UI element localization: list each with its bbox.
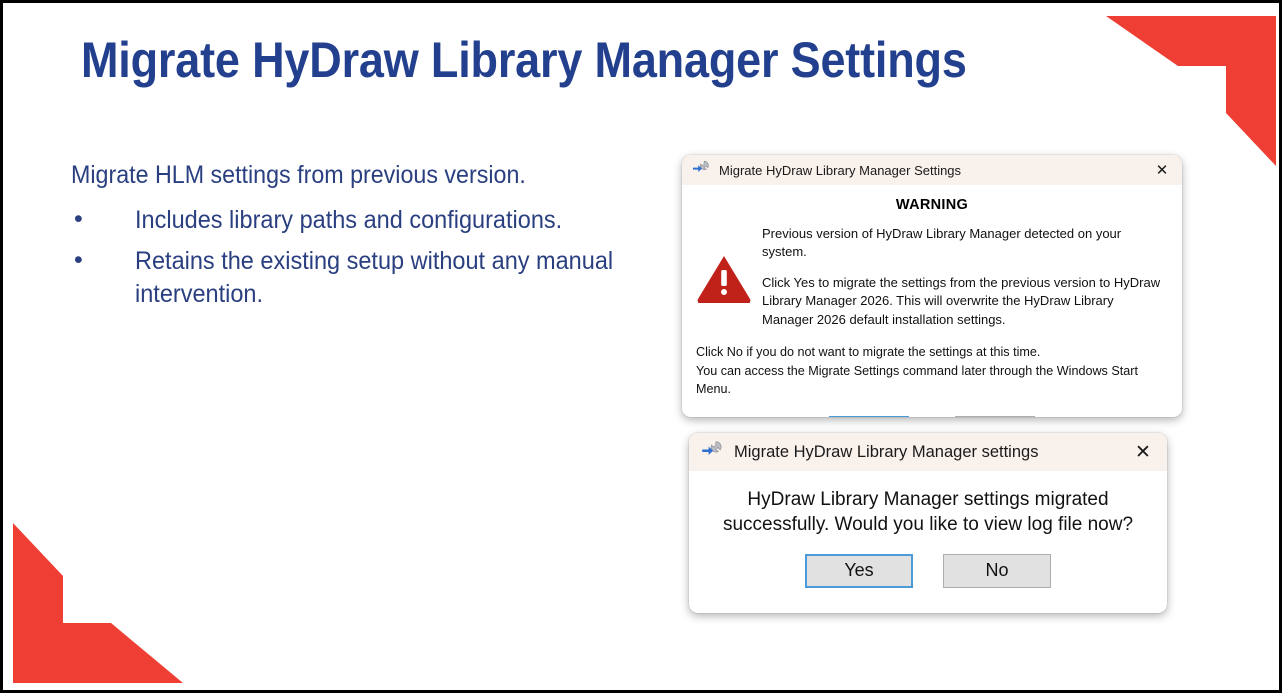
bullet-list: • Includes library paths and configurati… xyxy=(71,204,671,311)
success-dialog-title: Migrate HyDraw Library Manager settings xyxy=(734,443,1131,462)
success-dialog-buttons: Yes No xyxy=(719,554,1137,588)
success-message: HyDraw Library Manager settings migrated… xyxy=(719,487,1137,538)
warning-dialog: Migrate HyDraw Library Manager Settings … xyxy=(682,155,1182,417)
warning-content-row: Previous version of HyDraw Library Manag… xyxy=(696,225,1168,329)
decorative-corner-top-right xyxy=(1106,6,1276,166)
warning-triangle-icon xyxy=(696,225,762,308)
yes-button[interactable]: Yes xyxy=(829,416,909,417)
slide: Migrate HyDraw Library Manager Settings … xyxy=(0,0,1282,693)
migrate-settings-icon xyxy=(701,440,723,465)
warning-heading: WARNING xyxy=(696,197,1168,213)
warning-paragraph-3: Click No if you do not want to migrate t… xyxy=(696,343,1168,398)
lead-paragraph: Migrate HLM settings from previous versi… xyxy=(71,161,629,190)
list-item: • Includes library paths and configurati… xyxy=(71,204,671,237)
success-dialog-titlebar: Migrate HyDraw Library Manager settings … xyxy=(689,433,1167,471)
yes-button[interactable]: Yes xyxy=(805,554,913,588)
close-icon[interactable]: ✕ xyxy=(1152,161,1172,179)
list-item-label: Includes library paths and configuration… xyxy=(135,204,639,237)
no-button[interactable]: No xyxy=(943,554,1051,588)
success-dialog: Migrate HyDraw Library Manager settings … xyxy=(689,433,1167,613)
list-item: • Retains the existing setup without any… xyxy=(71,245,671,311)
list-item-label: Retains the existing setup without any m… xyxy=(135,245,639,311)
warning-dialog-titlebar: Migrate HyDraw Library Manager Settings … xyxy=(682,155,1182,185)
close-icon[interactable]: ✕ xyxy=(1131,441,1155,464)
warning-dialog-title: Migrate HyDraw Library Manager Settings xyxy=(719,163,1152,178)
decorative-corner-bottom-left xyxy=(13,523,183,683)
no-button[interactable]: No xyxy=(955,416,1035,417)
migrate-settings-icon xyxy=(692,160,710,181)
warning-texts: Previous version of HyDraw Library Manag… xyxy=(762,225,1168,329)
bullet-marker-icon: • xyxy=(74,244,83,277)
bullet-marker-icon: • xyxy=(74,203,83,236)
warning-dialog-buttons: Yes No xyxy=(696,416,1168,417)
success-dialog-body: HyDraw Library Manager settings migrated… xyxy=(689,471,1167,588)
warning-paragraph-2: Click Yes to migrate the settings from t… xyxy=(762,274,1168,329)
warning-dialog-body: WARNING Previous version of HyDraw Libra… xyxy=(682,185,1182,417)
page-title: Migrate HyDraw Library Manager Settings xyxy=(81,31,967,89)
warning-paragraph-1: Previous version of HyDraw Library Manag… xyxy=(762,225,1168,262)
body-copy: Migrate HLM settings from previous versi… xyxy=(71,161,671,319)
